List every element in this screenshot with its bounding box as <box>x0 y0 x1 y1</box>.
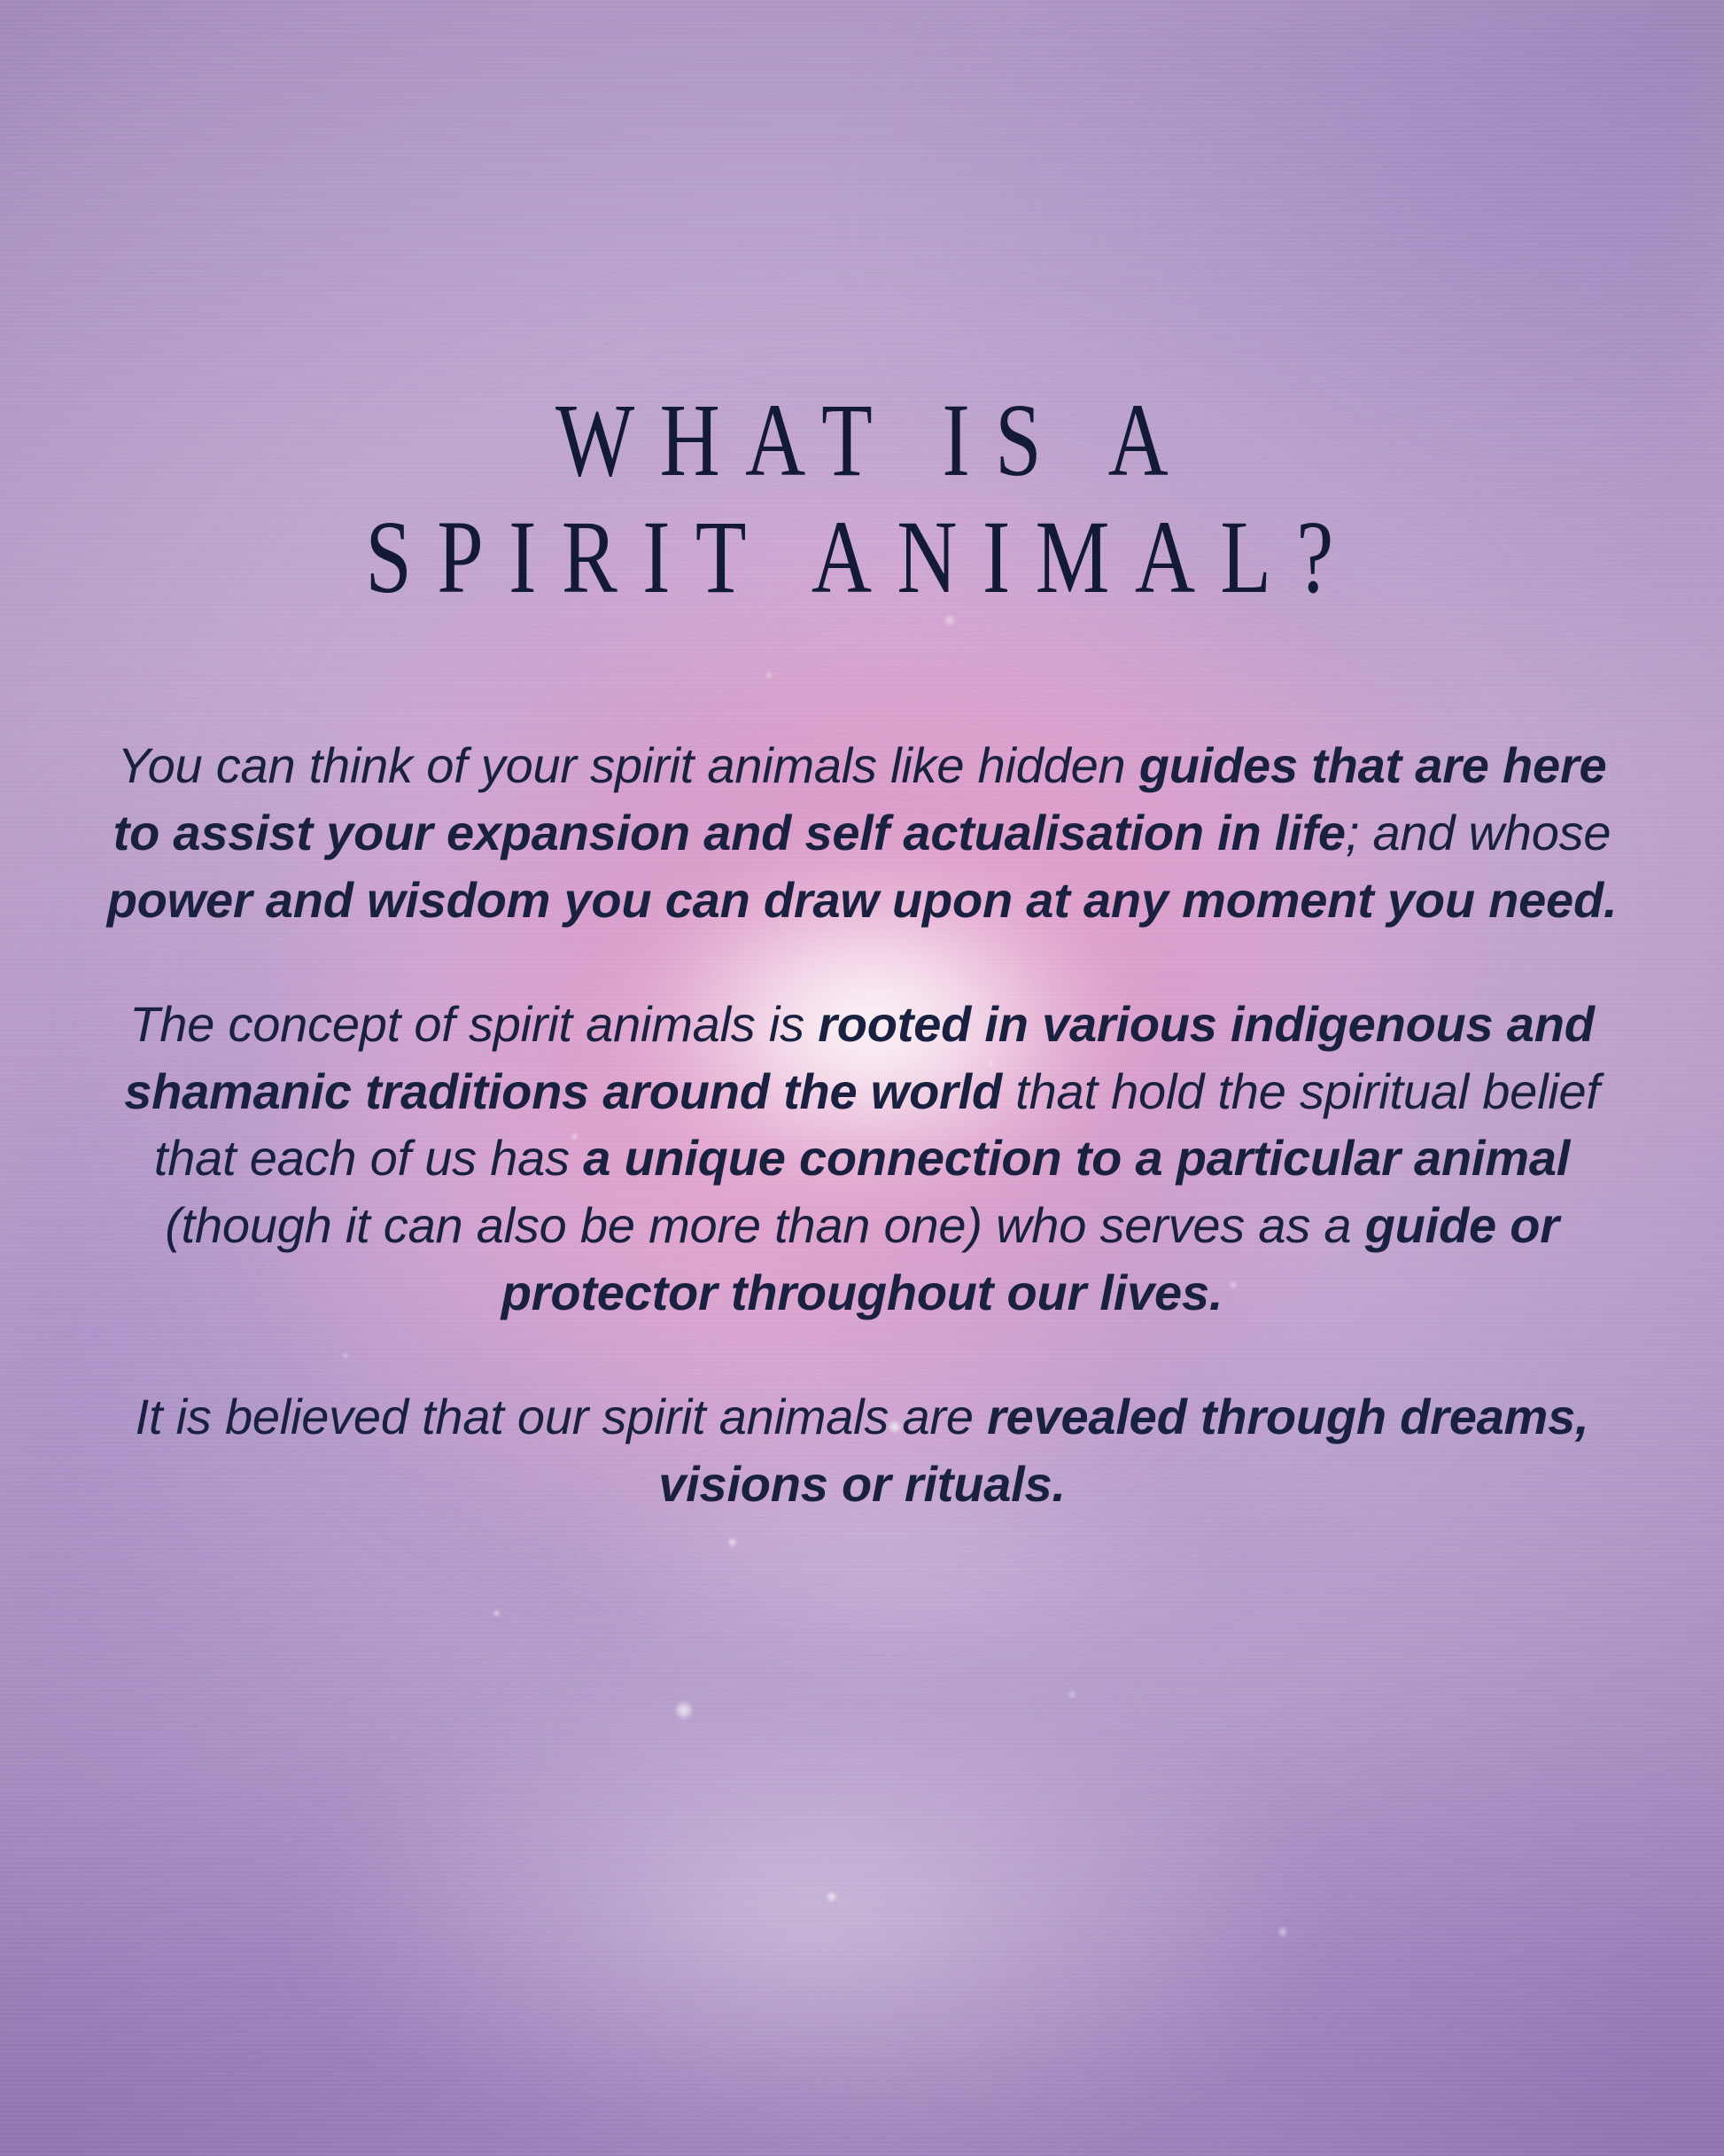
paragraph-1: You can think of your spirit animals lik… <box>96 732 1628 934</box>
emphasis-run: power and wisdom you can draw upon at an… <box>107 872 1618 928</box>
text-run: You can think of your spirit animals lik… <box>118 737 1139 793</box>
paragraph-2: The concept of spirit animals is rooted … <box>96 991 1628 1327</box>
body-copy: You can think of your spirit animals lik… <box>96 732 1628 1518</box>
text-run: (though it can also be more than one) wh… <box>165 1197 1364 1253</box>
page-title: WHAT IS A SPIRIT ANIMAL? <box>173 382 1552 616</box>
text-run: The concept of spirit animals is <box>129 996 818 1052</box>
poster-canvas: WHAT IS A SPIRIT ANIMAL? You can think o… <box>0 0 1724 2156</box>
poster-content: WHAT IS A SPIRIT ANIMAL? You can think o… <box>0 0 1724 2156</box>
text-run: It is believed that our spirit animals a… <box>136 1389 987 1444</box>
emphasis-run: a unique connection to a particular anim… <box>583 1130 1570 1186</box>
paragraph-3: It is believed that our spirit animals a… <box>96 1383 1628 1518</box>
text-run: ; and whose <box>1346 805 1611 860</box>
